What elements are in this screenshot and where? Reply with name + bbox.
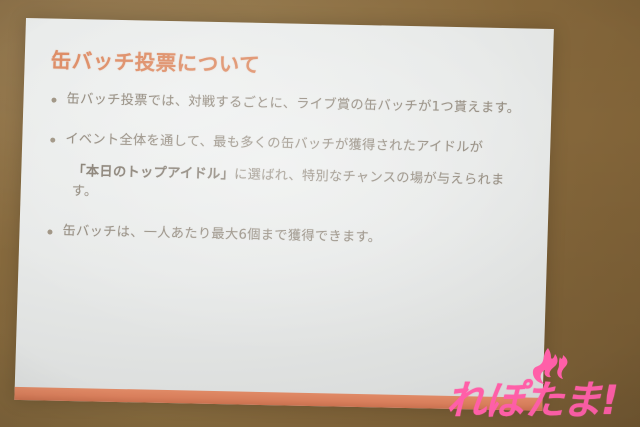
projected-slide: 缶バッチ投票について 缶バッチ投票では、対戦するごとに、ライブ賞の缶バッチが1つ… xyxy=(14,18,554,411)
bullet-emphasis: 「本日のトップアイドル」 xyxy=(72,164,234,182)
bullet-text: 缶バッチ投票では、対戦するごとに、ライブ賞の缶バッチが1つ貰えます。 xyxy=(66,91,520,115)
bullet-text: 缶バッチは、一人あたり最大6個まで獲得できます。 xyxy=(62,224,381,246)
list-item: イベント全体を通して、最も多くの缶バッチが獲得されたアイドルが 「本日のトップア… xyxy=(46,130,524,212)
slide-content: 缶バッチ投票について 缶バッチ投票では、対戦するごとに、ライブ賞の缶バッチが1つ… xyxy=(14,18,554,411)
bullet-continuation: 「本日のトップアイドル」に選ばれ、特別なチャンスの場が与えられます。 xyxy=(71,162,523,212)
list-item: 缶バッチ投票では、対戦するごとに、ライブ賞の缶バッチが1つ貰えます。 xyxy=(49,89,526,119)
bullet-list: 缶バッチ投票では、対戦するごとに、ライブ賞の缶バッチが1つ貰えます。 イベント全… xyxy=(45,89,526,252)
page-title: 缶バッチ投票について xyxy=(50,49,527,84)
list-item: 缶バッチは、一人あたり最大6個まで獲得できます。 xyxy=(45,222,522,252)
screenshot-root: 缶バッチ投票について 缶バッチ投票では、対戦するごとに、ライブ賞の缶バッチが1つ… xyxy=(0,0,640,427)
bullet-text: イベント全体を通して、最も多くの缶バッチが獲得されたアイドルが xyxy=(65,132,483,156)
